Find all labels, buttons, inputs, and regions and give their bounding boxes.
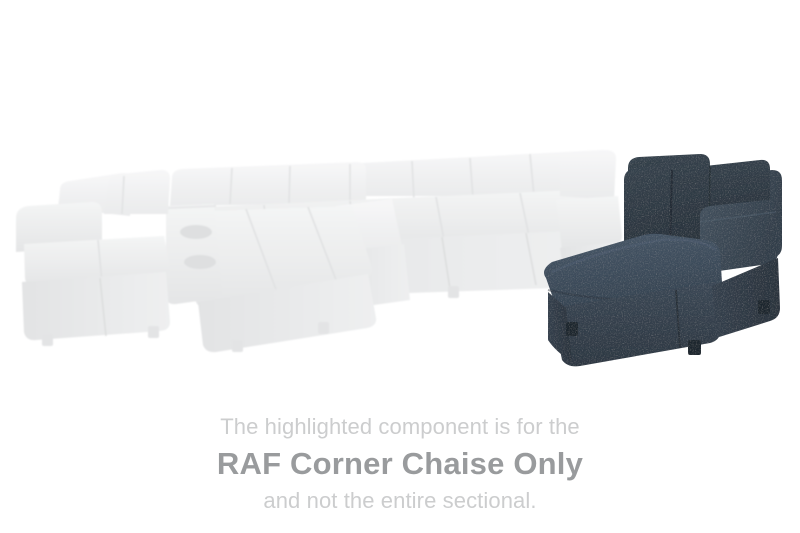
sectional-diagram-svg <box>0 0 800 400</box>
ghosted-sectional-group <box>16 150 622 352</box>
caption-line-bottom: and not the entire sectional. <box>0 486 800 516</box>
caption-block: The highlighted component is for the RAF… <box>0 412 800 516</box>
product-figure: The highlighted component is for the RAF… <box>0 0 800 533</box>
chaise-foot-right <box>758 300 770 314</box>
sectional-illustration <box>0 0 800 400</box>
chaise-foot-front <box>688 340 701 355</box>
caption-line-highlight: RAF Corner Chaise Only <box>0 443 800 485</box>
module-laf-loveseat-ghost <box>16 170 170 346</box>
chaise-foot-left <box>566 322 578 336</box>
caption-line-top: The highlighted component is for the <box>0 412 800 442</box>
module-console-ghost <box>166 204 222 304</box>
